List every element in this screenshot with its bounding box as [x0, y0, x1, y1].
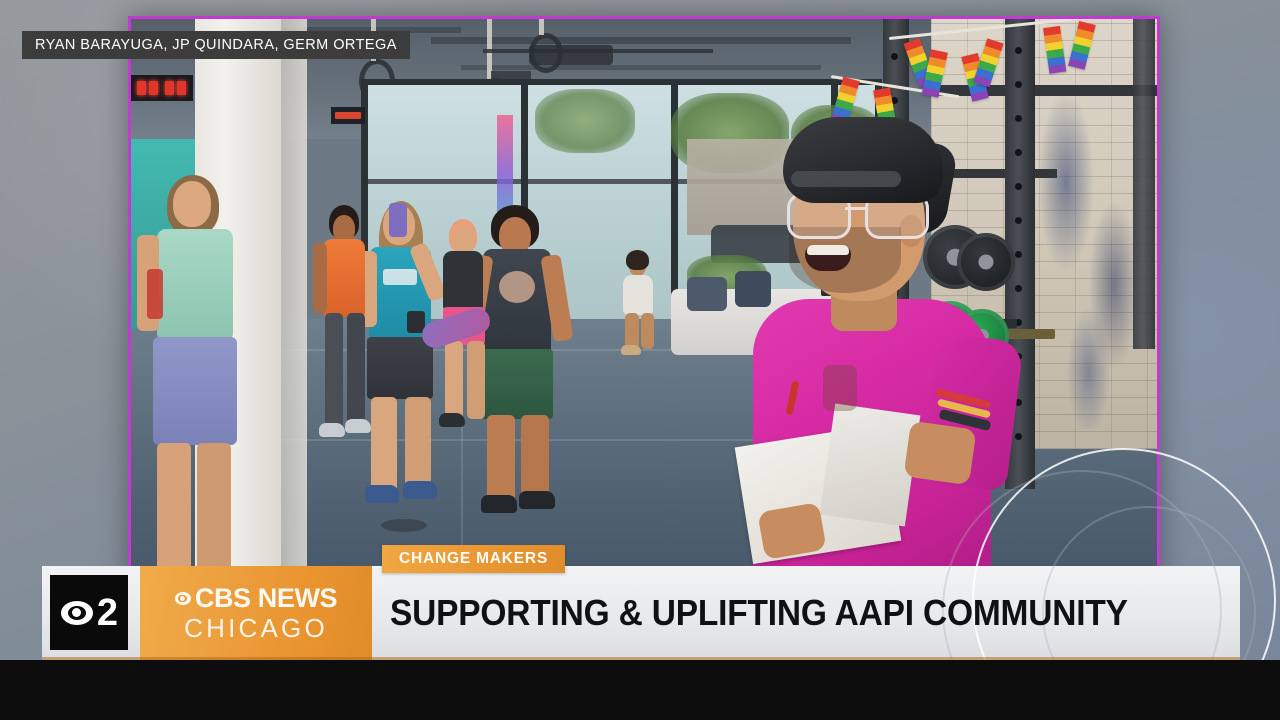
person-head: [453, 227, 475, 253]
floor-equipment: [381, 519, 427, 532]
ring-strap: [539, 19, 544, 35]
ceiling-beam: [461, 65, 821, 70]
led-digit: [165, 81, 174, 95]
station-logo[interactable]: 2: [50, 575, 128, 650]
water-bottle: [389, 203, 407, 237]
brand-network-label: CBS NEWS: [195, 585, 337, 612]
cap-band: [791, 171, 901, 187]
person-shorts: [367, 337, 433, 399]
person-shorts: [481, 349, 553, 419]
person-shoe: [519, 491, 555, 509]
person-shoe: [403, 481, 437, 499]
person-leg: [325, 313, 343, 429]
person-head: [173, 181, 211, 227]
person-shoe: [365, 485, 399, 503]
channel-number: 2: [97, 594, 117, 632]
person-shoe: [439, 413, 465, 427]
person-top: [443, 251, 483, 311]
person-leg: [487, 415, 515, 503]
letterbox-bar: [0, 660, 1280, 720]
ceiling-beam: [431, 37, 851, 44]
subject-hand: [903, 421, 976, 486]
rack-hole: [891, 53, 898, 60]
person-shoe: [319, 423, 345, 437]
person-shoe: [621, 345, 641, 355]
exit-sign: [331, 107, 365, 124]
person-shorts: [153, 337, 237, 445]
person-arm: [313, 243, 327, 313]
shirt-graphic: [499, 271, 535, 303]
lower-third: 2 CBS NEWS CHICAGO CHANGE MAKERS SUPPORT…: [42, 566, 1240, 660]
led-digit: [137, 81, 146, 95]
person-top: [157, 229, 233, 339]
cbs-eye-icon: [175, 592, 191, 605]
person-leg: [445, 341, 463, 419]
outdoor-tree: [535, 89, 635, 153]
subject-teeth: [807, 245, 849, 255]
person-torso: [623, 275, 653, 315]
brand-network-row: CBS NEWS: [175, 585, 337, 612]
cbs-eye-icon: [61, 601, 93, 625]
person-leg: [405, 397, 431, 493]
person-leg: [521, 415, 549, 503]
rack-hole: [1015, 47, 1022, 54]
sofa-cushion: [687, 277, 727, 311]
person-leg: [467, 341, 485, 419]
person-hair: [626, 250, 649, 270]
led-digit: [149, 81, 158, 95]
person-shoe: [345, 419, 371, 433]
broadcast-screen: RYAN BARAYUGA, JP QUINDARA, GERM ORTEGA …: [0, 0, 1280, 720]
led-digit: [177, 81, 186, 95]
person-leg: [625, 313, 639, 349]
shirt-graphic: [383, 269, 417, 285]
ceiling-fan: [529, 45, 613, 65]
headline: SUPPORTING & UPLIFTING AAPI COMMUNITY: [390, 566, 1181, 660]
person-leg: [371, 397, 397, 493]
headline-text: SUPPORTING & UPLIFTING AAPI COMMUNITY: [390, 592, 1128, 634]
brand-block: CBS NEWS CHICAGO: [140, 566, 372, 660]
tattoo: [823, 365, 857, 411]
wall-edge: [281, 19, 307, 587]
glasses-bridge: [845, 207, 865, 210]
rack-hole: [1015, 81, 1022, 88]
rack-post: [1133, 19, 1155, 349]
person-leg: [347, 313, 365, 429]
led-display: [131, 75, 193, 101]
photo-credit: RYAN BARAYUGA, JP QUINDARA, GERM ORTEGA: [22, 31, 410, 59]
window-mullion: [361, 79, 881, 85]
person-shoe: [481, 495, 517, 513]
person-leg: [641, 313, 654, 349]
brand-market-label: CHICAGO: [184, 615, 328, 641]
person-strap: [147, 269, 163, 319]
photo-credit-text: RYAN BARAYUGA, JP QUINDARA, GERM ORTEGA: [35, 37, 397, 53]
backwards-cap: [783, 117, 943, 203]
floor-line: [671, 359, 673, 587]
person-top: [323, 239, 365, 317]
